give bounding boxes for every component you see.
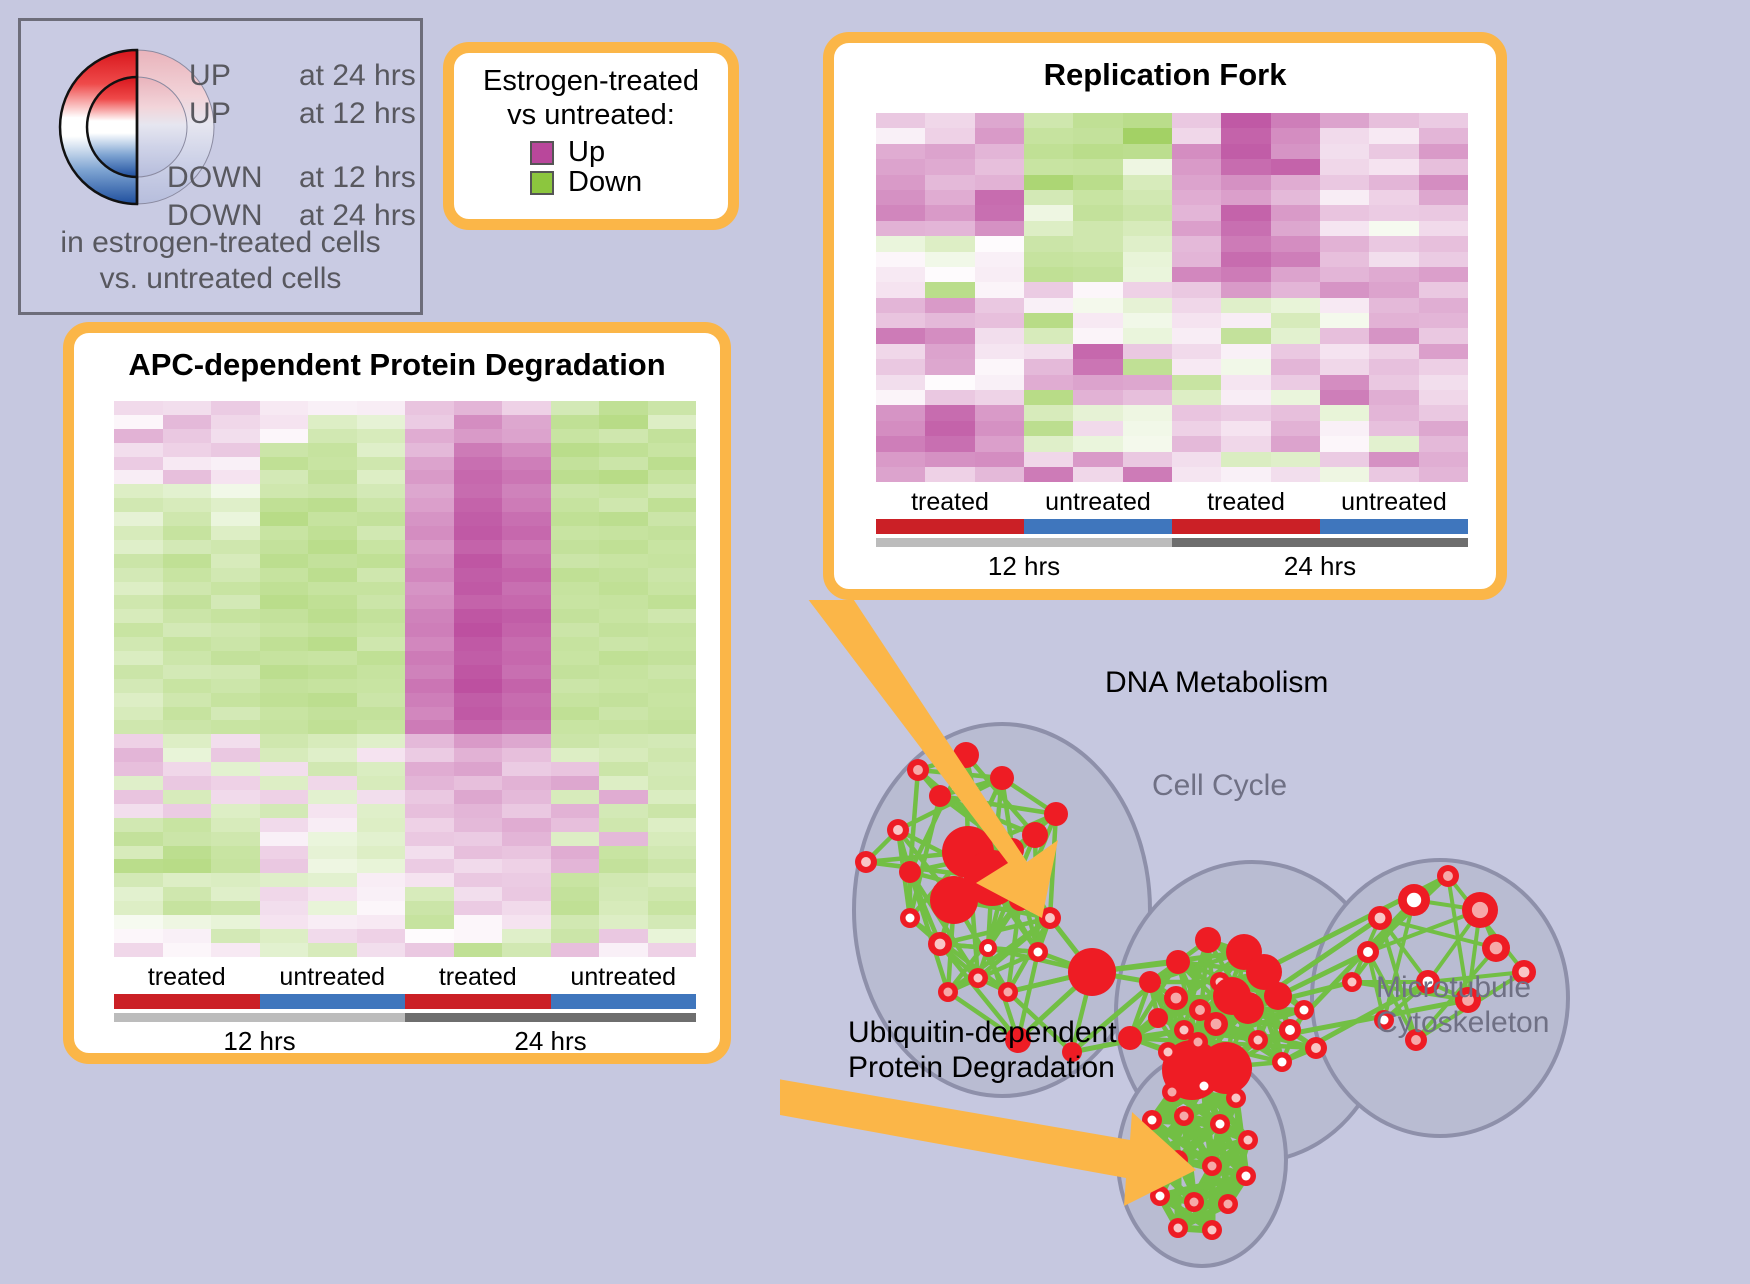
heat-cell (211, 846, 260, 860)
heat-cell (260, 720, 309, 734)
heat-cell (308, 720, 357, 734)
heat-cell (648, 762, 697, 776)
heat-cell (599, 915, 648, 929)
heat-cell (551, 915, 600, 929)
heat-cell (1271, 436, 1320, 451)
heat-cell (114, 554, 163, 568)
heat-cell (1073, 390, 1122, 405)
heat-cell (648, 429, 697, 443)
heat-cell (1123, 159, 1172, 174)
heat-cell (1024, 205, 1073, 220)
heat-cell (405, 943, 454, 957)
heat-cell (925, 375, 974, 390)
heat-cell (308, 554, 357, 568)
heat-cell (975, 313, 1024, 328)
heat-cell (357, 457, 406, 471)
heat-cell (211, 915, 260, 929)
heat-cell (925, 405, 974, 420)
network-node-core (1216, 1120, 1225, 1129)
heat-cell (551, 748, 600, 762)
heat-cell (454, 595, 503, 609)
heat-cell (975, 205, 1024, 220)
network-node (899, 861, 921, 883)
heat-cell (405, 846, 454, 860)
heat-cell (211, 859, 260, 873)
heat-cell (211, 526, 260, 540)
heat-cell (211, 707, 260, 721)
heat-cell (163, 720, 212, 734)
heat-cell (1369, 405, 1418, 420)
heat-cell (260, 776, 309, 790)
heat-cell (357, 887, 406, 901)
heat-cell (975, 190, 1024, 205)
heat-cell (1271, 252, 1320, 267)
rf-bar-untreated-24 (1320, 519, 1468, 534)
heat-cell (163, 582, 212, 596)
replication-fork-panel: Replication Fork treated untreated treat… (823, 32, 1507, 600)
heat-cell (1369, 421, 1418, 436)
heat-cell (925, 421, 974, 436)
heat-cell (648, 554, 697, 568)
rf-condition-bar (876, 519, 1468, 534)
heat-cell (1073, 113, 1122, 128)
heat-cell (1073, 128, 1122, 143)
heat-cell (1172, 252, 1221, 267)
heat-cell (260, 707, 309, 721)
heat-cell (925, 159, 974, 174)
heat-cell (551, 623, 600, 637)
heat-cell (211, 665, 260, 679)
heat-cell (163, 679, 212, 693)
heat-cell (454, 873, 503, 887)
heat-cell (1320, 452, 1369, 467)
heat-cell (405, 484, 454, 498)
heat-cell (551, 470, 600, 484)
heat-cell (357, 776, 406, 790)
heat-cell (1271, 298, 1320, 313)
heat-cell (211, 484, 260, 498)
heat-cell (648, 665, 697, 679)
replication-fork-heatmap (876, 113, 1468, 482)
heat-cell (1172, 159, 1221, 174)
heat-cell (1419, 159, 1468, 174)
heat-cell (1172, 359, 1221, 374)
heat-cell (1172, 436, 1221, 451)
heat-cell (211, 429, 260, 443)
heat-cell (1024, 113, 1073, 128)
network-node-core (1348, 978, 1357, 987)
heat-cell (260, 748, 309, 762)
heat-cell (502, 901, 551, 915)
network-node-core (984, 944, 992, 952)
heat-cell (454, 707, 503, 721)
heat-cell (163, 832, 212, 846)
network-node-core (1208, 1162, 1217, 1171)
heat-cell (260, 609, 309, 623)
heat-cell (1221, 159, 1270, 174)
heat-cell (1320, 205, 1369, 220)
heat-cell (1320, 313, 1369, 328)
heat-cell (405, 776, 454, 790)
rf-bar-treated-24 (1172, 519, 1320, 534)
apc-time-1: 24 hrs (405, 1026, 696, 1057)
heat-cell (454, 665, 503, 679)
heat-cell (975, 221, 1024, 236)
heat-cell (502, 401, 551, 415)
heat-cell (357, 429, 406, 443)
heat-cell (163, 651, 212, 665)
rf-time-1: 24 hrs (1172, 551, 1468, 582)
heat-cell (308, 929, 357, 943)
heat-cell (1221, 421, 1270, 436)
heat-cell (114, 401, 163, 415)
heat-cell (648, 873, 697, 887)
network-node (1264, 982, 1292, 1010)
heat-cell (1172, 175, 1221, 190)
heat-cell (405, 734, 454, 748)
heat-cell (551, 568, 600, 582)
heat-cell (1369, 328, 1418, 343)
heat-cell (1172, 313, 1221, 328)
heat-cell (163, 568, 212, 582)
heat-cell (260, 470, 309, 484)
heat-cell (502, 818, 551, 832)
network-node-core (944, 988, 953, 997)
heat-cell (308, 443, 357, 457)
heat-cell (1419, 205, 1468, 220)
heat-cell (1419, 128, 1468, 143)
heat-cell (1221, 236, 1270, 251)
wheel-state-0: UP (189, 59, 231, 93)
heat-cell (648, 804, 697, 818)
heat-cell (1123, 190, 1172, 205)
heat-cell (502, 832, 551, 846)
heat-cell (648, 748, 697, 762)
heat-cell (163, 707, 212, 721)
heat-cell (1419, 452, 1468, 467)
heat-cell (454, 734, 503, 748)
rf-cond-1: untreated (1024, 488, 1172, 517)
heat-cell (648, 846, 697, 860)
heat-cell (1419, 328, 1468, 343)
heat-cell (1419, 375, 1468, 390)
heat-cell (599, 679, 648, 693)
heat-cell (114, 457, 163, 471)
heat-cell (357, 609, 406, 623)
heat-cell (925, 113, 974, 128)
heat-cell (357, 582, 406, 596)
heat-cell (599, 554, 648, 568)
heat-cell (599, 637, 648, 651)
heat-cell (925, 436, 974, 451)
heat-cell (1271, 359, 1320, 374)
heat-cell (599, 887, 648, 901)
heat-cell (876, 221, 925, 236)
heat-cell (975, 452, 1024, 467)
heat-cell (502, 651, 551, 665)
heat-cell (114, 832, 163, 846)
heat-cell (211, 679, 260, 693)
heat-cell (454, 915, 503, 929)
heat-cell (1172, 421, 1221, 436)
heat-cell (1024, 190, 1073, 205)
heat-cell (1320, 298, 1369, 313)
heat-cell (114, 429, 163, 443)
heat-cell (405, 554, 454, 568)
heat-cell (502, 804, 551, 818)
heat-cell (357, 637, 406, 651)
heat-cell (454, 582, 503, 596)
heat-cell (1073, 313, 1122, 328)
heat-cell (1172, 190, 1221, 205)
heat-cell (648, 623, 697, 637)
network-node-core (1254, 1036, 1263, 1045)
heat-cell (260, 679, 309, 693)
heat-cell (114, 790, 163, 804)
heat-cell (876, 267, 925, 282)
heat-cell (163, 554, 212, 568)
heat-cell (1221, 359, 1270, 374)
heat-cell (1369, 467, 1418, 482)
wheel-state-2: DOWN (167, 161, 263, 195)
heat-cell (1123, 313, 1172, 328)
network-node-core (1407, 893, 1421, 907)
heat-cell (599, 443, 648, 457)
heat-cell (1419, 236, 1468, 251)
heat-cell (648, 734, 697, 748)
heat-cell (1123, 252, 1172, 267)
heat-cell (925, 452, 974, 467)
heat-cell (114, 568, 163, 582)
heat-cell (260, 859, 309, 873)
heat-cell (551, 943, 600, 957)
apc-cond-1: untreated (260, 963, 406, 992)
heat-cell (1024, 405, 1073, 420)
heat-cell (551, 720, 600, 734)
heat-cell (502, 415, 551, 429)
heat-cell (551, 540, 600, 554)
network-node-core (1190, 1198, 1199, 1207)
heat-cell (1369, 128, 1418, 143)
up-down-legend-card: Estrogen-treated vs untreated: Up Down (443, 42, 739, 230)
heat-cell (163, 637, 212, 651)
network-node-core (1168, 1088, 1177, 1097)
heat-cell (925, 467, 974, 482)
heat-cell (599, 859, 648, 873)
heat-cell (648, 859, 697, 873)
heat-cell (1073, 405, 1122, 420)
heat-cell (1123, 144, 1172, 159)
heat-cell (308, 595, 357, 609)
heat-cell (648, 679, 697, 693)
heat-cell (211, 929, 260, 943)
heat-cell (1172, 344, 1221, 359)
network-node-core (1443, 871, 1453, 881)
heat-cell (357, 818, 406, 832)
network-node-core (893, 825, 903, 835)
heat-cell (925, 282, 974, 297)
heat-cell (1073, 467, 1122, 482)
heat-cell (925, 344, 974, 359)
heat-cell (308, 582, 357, 596)
heat-cell (211, 498, 260, 512)
heat-cell (1419, 252, 1468, 267)
heat-cell (357, 832, 406, 846)
heat-cell (405, 498, 454, 512)
heat-cell (502, 568, 551, 582)
heat-cell (114, 415, 163, 429)
heat-cell (1419, 467, 1468, 482)
heat-cell (405, 609, 454, 623)
heat-cell (114, 609, 163, 623)
heat-cell (502, 790, 551, 804)
network-node-core (1211, 1019, 1222, 1030)
heat-cell (1172, 144, 1221, 159)
heat-cell (163, 484, 212, 498)
heat-cell (502, 582, 551, 596)
heat-cell (260, 554, 309, 568)
heat-cell (648, 651, 697, 665)
heat-cell (599, 526, 648, 540)
heat-cell (454, 859, 503, 873)
heat-cell (876, 421, 925, 436)
heat-cell (502, 665, 551, 679)
heat-cell (260, 540, 309, 554)
heat-cell (502, 873, 551, 887)
heat-cell (876, 328, 925, 343)
heat-cell (1221, 405, 1270, 420)
heat-cell (211, 873, 260, 887)
heat-cell (1024, 267, 1073, 282)
heat-cell (260, 943, 309, 957)
heat-cell (260, 762, 309, 776)
heat-cell (405, 832, 454, 846)
heat-cell (405, 429, 454, 443)
network-node-core (1164, 1048, 1173, 1057)
cluster-label-ubiquitin-degradation: Ubiquitin-dependent Protein Degradation (848, 1015, 1117, 1086)
replication-fork-title: Replication Fork (834, 57, 1496, 93)
heat-cell (260, 846, 309, 860)
heat-cell (502, 943, 551, 957)
heat-cell (1172, 128, 1221, 143)
heat-cell (599, 804, 648, 818)
heat-cell (405, 790, 454, 804)
heat-cell (163, 470, 212, 484)
heat-cell (114, 762, 163, 776)
heat-cell (1271, 421, 1320, 436)
heat-cell (454, 457, 503, 471)
heat-cell (357, 804, 406, 818)
heat-cell (308, 832, 357, 846)
heat-cell (1073, 159, 1122, 174)
heat-cell (975, 252, 1024, 267)
heat-cell (163, 457, 212, 471)
heat-cell (551, 859, 600, 873)
heat-cell (1123, 421, 1172, 436)
heat-cell (260, 804, 309, 818)
wheel-state-1: UP (189, 97, 231, 131)
rf-cond-3: untreated (1320, 488, 1468, 517)
heat-cell (211, 804, 260, 818)
network-node-core (1194, 1038, 1203, 1047)
heat-cell (308, 498, 357, 512)
heat-cell (1024, 282, 1073, 297)
heat-cell (308, 943, 357, 957)
heat-cell (551, 734, 600, 748)
apc-timebar-24 (405, 1013, 696, 1022)
heat-cell (502, 859, 551, 873)
heat-cell (1221, 205, 1270, 220)
network-node-core (1208, 1226, 1217, 1235)
heat-cell (308, 470, 357, 484)
heat-cell (599, 734, 648, 748)
heat-cell (975, 298, 1024, 313)
heat-cell (599, 470, 648, 484)
rf-timebar-12 (876, 538, 1172, 547)
heat-cell (211, 901, 260, 915)
heat-cell (1073, 359, 1122, 374)
heat-cell (114, 734, 163, 748)
network-node (1139, 971, 1161, 993)
heat-cell (599, 512, 648, 526)
heat-cell (1172, 375, 1221, 390)
heat-cell (1172, 452, 1221, 467)
apc-bar-treated-12 (114, 994, 260, 1009)
heat-cell (599, 901, 648, 915)
heat-cell (163, 429, 212, 443)
heat-cell (502, 887, 551, 901)
heat-cell (599, 776, 648, 790)
heat-cell (211, 595, 260, 609)
heat-cell (1221, 298, 1270, 313)
heat-cell (1172, 267, 1221, 282)
network-node-core (1311, 1043, 1321, 1053)
heat-cell (211, 651, 260, 665)
heat-cell (551, 443, 600, 457)
heat-cell (308, 415, 357, 429)
heat-cell (925, 128, 974, 143)
apc-condition-labels: treated untreated treated untreated (114, 963, 696, 992)
heat-cell (163, 734, 212, 748)
heat-cell (1271, 113, 1320, 128)
heat-cell (211, 568, 260, 582)
heat-cell (163, 846, 212, 860)
network-node-core (1363, 947, 1373, 957)
heat-cell (114, 526, 163, 540)
heat-cell (260, 429, 309, 443)
wheel-time-1: at 12 hrs (299, 97, 416, 131)
legend-items: Up Down (454, 138, 728, 197)
heat-cell (1369, 436, 1418, 451)
heat-cell (357, 623, 406, 637)
heat-cell (357, 873, 406, 887)
heat-cell (1320, 359, 1369, 374)
heat-cell (357, 734, 406, 748)
heat-cell (211, 457, 260, 471)
heat-cell (114, 929, 163, 943)
heat-cell (357, 568, 406, 582)
heat-cell (1221, 282, 1270, 297)
heat-cell (454, 623, 503, 637)
heat-cell (599, 595, 648, 609)
network-node-core (974, 974, 983, 983)
heat-cell (876, 390, 925, 405)
heat-cell (1123, 113, 1172, 128)
heat-cell (876, 359, 925, 374)
heat-cell (975, 405, 1024, 420)
heat-cell (925, 252, 974, 267)
heat-cell (1221, 252, 1270, 267)
